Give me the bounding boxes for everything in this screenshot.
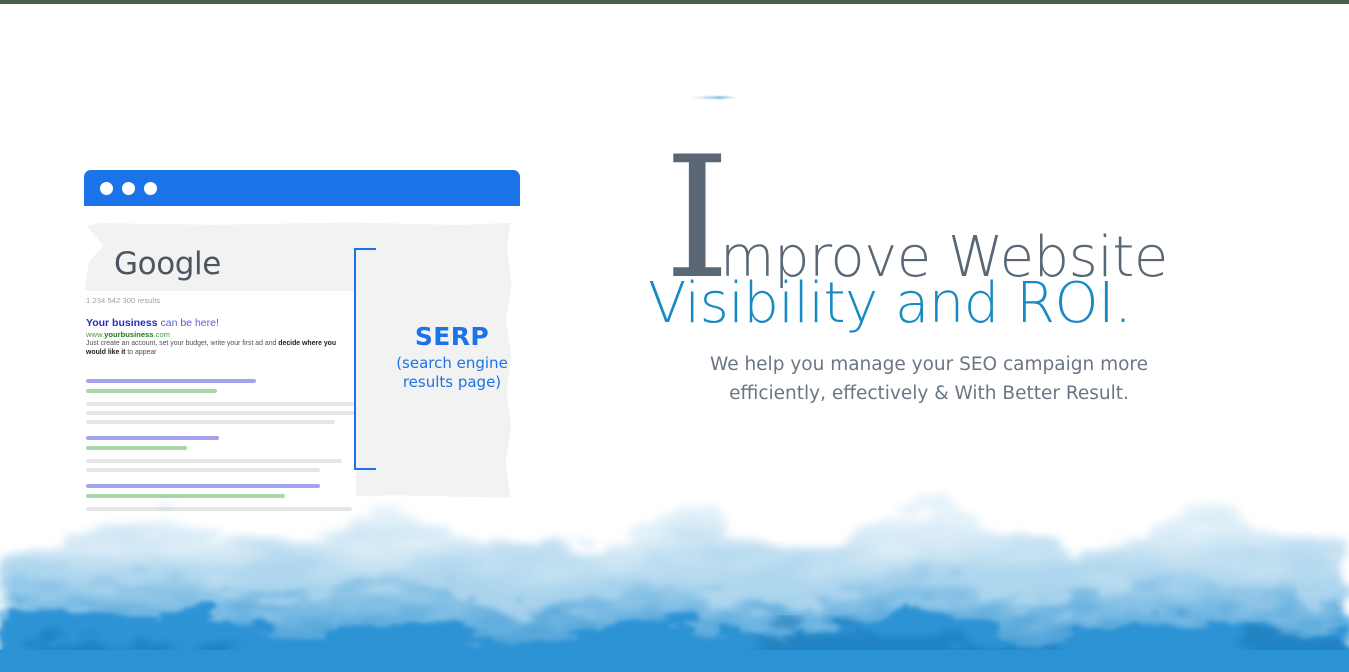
result-gray-bar bbox=[86, 507, 352, 511]
result-gray-bar bbox=[86, 459, 342, 463]
serp-callout: SERP (search engine results page) bbox=[384, 322, 520, 392]
hero-subhead: We help you manage your SEO campaign mor… bbox=[640, 350, 1156, 408]
minimize-dot-icon[interactable] bbox=[122, 182, 135, 195]
serp-callout-subtitle-line2: results page) bbox=[384, 373, 520, 392]
serp-callout-subtitle: (search engine results page) bbox=[384, 354, 520, 392]
hero-subhead-line2: efficiently, effectively & With Better R… bbox=[729, 383, 1129, 404]
ad-url[interactable]: www.yourbusiness.com bbox=[86, 330, 354, 340]
ad-desc-part1: Just create an account, set your budget,… bbox=[86, 340, 278, 347]
result-item[interactable] bbox=[86, 436, 342, 477]
serp-callout-title: SERP bbox=[384, 322, 520, 352]
result-item[interactable] bbox=[86, 379, 356, 429]
headline-line-1: I mprove Website bbox=[640, 120, 1240, 278]
ad-title-strong: Your business bbox=[86, 317, 158, 329]
headline-line-2: Visibility and ROI. bbox=[640, 272, 1240, 336]
ad-description: Just create an account, set your budget,… bbox=[86, 340, 350, 357]
result-green-bar bbox=[86, 494, 285, 498]
result-purple-bar bbox=[86, 436, 219, 440]
search-results-card: 1 234 542 300 results Your business can … bbox=[84, 291, 356, 527]
decorative-wisp bbox=[690, 96, 738, 99]
result-gray-bar bbox=[86, 420, 335, 424]
results-count-label: 1 234 542 300 results bbox=[86, 296, 160, 305]
hero-subhead-line1: We help you manage your SEO campaign mor… bbox=[710, 354, 1148, 375]
hero-banner: Google 1 234 542 300 results Your busine… bbox=[0, 0, 1349, 672]
ad-url-prefix: www. bbox=[86, 330, 104, 339]
result-item[interactable] bbox=[86, 484, 352, 516]
maximize-dot-icon[interactable] bbox=[144, 182, 157, 195]
serp-callout-subtitle-line1: (search engine bbox=[384, 354, 520, 373]
result-green-bar bbox=[86, 389, 217, 393]
close-dot-icon[interactable] bbox=[100, 182, 113, 195]
sponsored-result[interactable]: Your business can be here! www.yourbusin… bbox=[86, 317, 354, 357]
result-gray-bar bbox=[86, 468, 320, 472]
ad-url-domain: yourbusiness bbox=[104, 330, 153, 339]
result-gray-bar bbox=[86, 402, 354, 406]
ad-title-rest: can be here! bbox=[158, 317, 219, 329]
result-green-bar bbox=[86, 446, 187, 450]
result-purple-bar bbox=[86, 379, 256, 383]
browser-titlebar bbox=[84, 170, 520, 206]
ad-desc-part2: to appear bbox=[125, 349, 156, 356]
top-accent-rule bbox=[0, 0, 1349, 4]
hero-text-block: I mprove Website Visibility and ROI. We … bbox=[640, 120, 1240, 408]
callout-bracket-icon bbox=[354, 248, 376, 470]
ad-title[interactable]: Your business can be here! bbox=[86, 317, 354, 330]
result-purple-bar bbox=[86, 484, 320, 488]
ad-url-tld: .com bbox=[154, 330, 170, 339]
result-gray-bar bbox=[86, 411, 356, 415]
browser-mockup: Google 1 234 542 300 results Your busine… bbox=[84, 170, 520, 530]
google-wordmark: Google bbox=[114, 246, 221, 282]
